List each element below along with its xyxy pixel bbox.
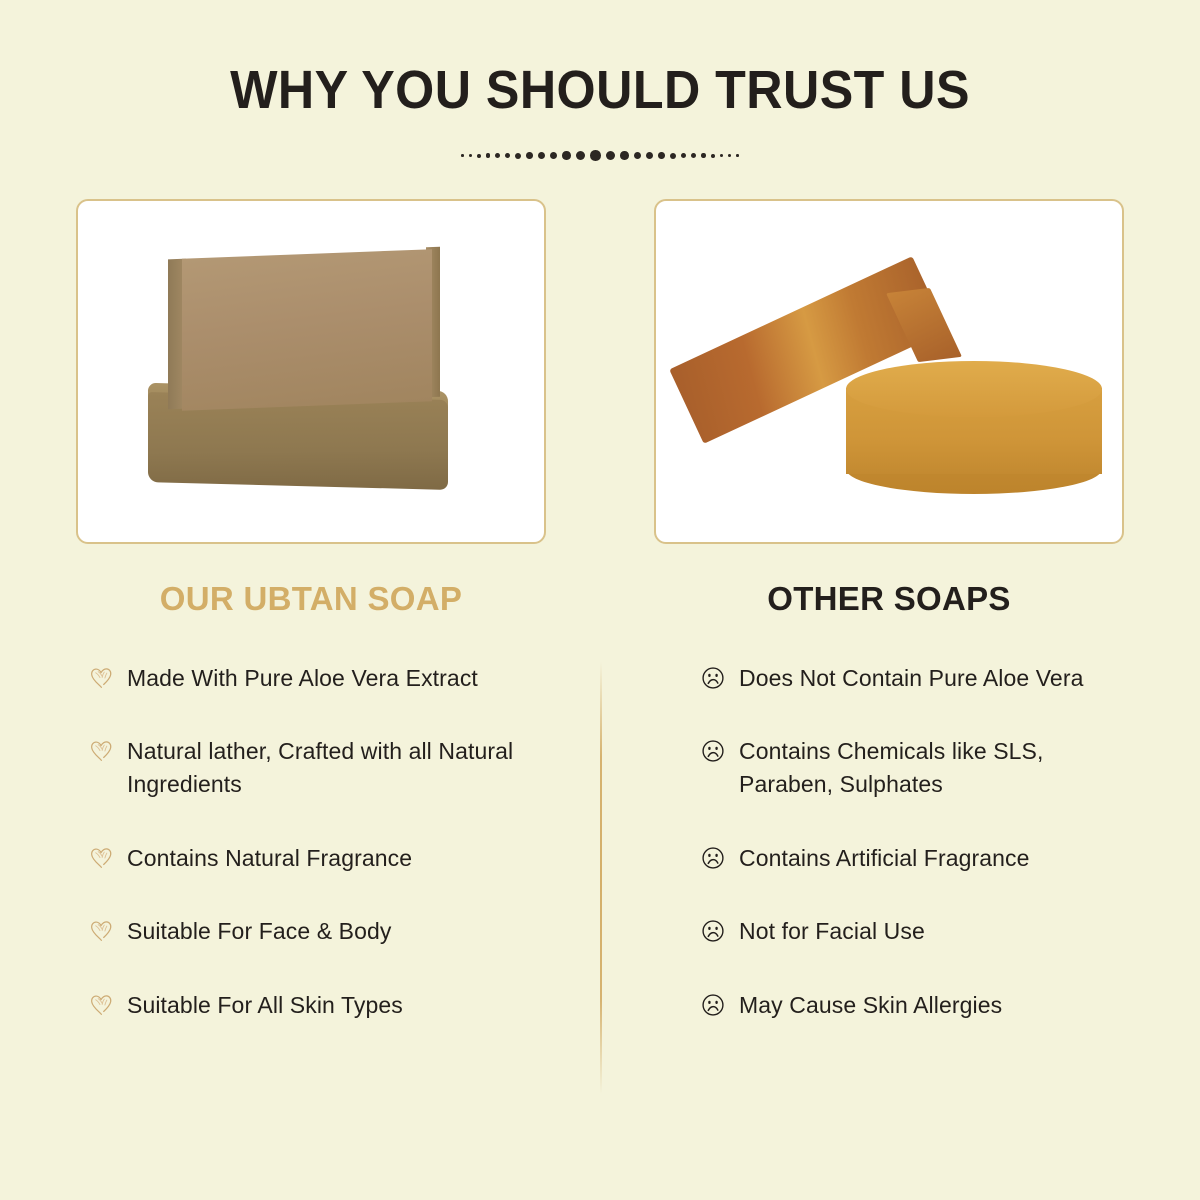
column-divider (600, 662, 602, 1094)
list-item: Suitable For All Skin Types (86, 989, 546, 1022)
sad-face-icon (698, 663, 728, 693)
divider-dot (515, 153, 521, 159)
our-soap-photo (78, 201, 544, 542)
list-item-label: Suitable For All Skin Types (127, 989, 403, 1022)
list-item: Contains Artificial Fragrance (698, 842, 1124, 875)
hand-drawn-heart-icon (86, 736, 116, 766)
divider-dot (670, 153, 676, 159)
list-item-label: May Cause Skin Allergies (739, 989, 1002, 1022)
list-item-label: Made With Pure Aloe Vera Extract (127, 662, 478, 695)
comparison-lists: Made With Pure Aloe Vera ExtractNatural … (0, 662, 1200, 1022)
divider-dot (477, 154, 481, 158)
list-item: Suitable For Face & Body (86, 915, 546, 948)
hand-drawn-heart-icon (86, 990, 116, 1020)
hand-drawn-heart-icon (86, 916, 116, 946)
list-item: Natural lather, Crafted with all Natural… (86, 735, 546, 800)
divider-dot (701, 153, 706, 158)
divider-dot (461, 154, 464, 157)
list-item-label: Contains Chemicals like SLS, Paraben, Su… (739, 735, 1124, 800)
list-item-label: Contains Natural Fragrance (127, 842, 412, 875)
list-item: Made With Pure Aloe Vera Extract (86, 662, 546, 695)
divider-dot (505, 153, 510, 158)
list-item-label: Does Not Contain Pure Aloe Vera (739, 662, 1083, 695)
divider-dot (550, 152, 558, 160)
list-item: Contains Natural Fragrance (86, 842, 546, 875)
list-item-label: Not for Facial Use (739, 915, 925, 948)
other-soaps-heading: OTHER SOAPS (654, 580, 1124, 618)
divider-dot (486, 153, 491, 158)
divider-dot (620, 151, 629, 160)
our-soap-benefit-list: Made With Pure Aloe Vera ExtractNatural … (76, 662, 546, 1022)
divider-dot (606, 151, 616, 161)
our-soap-heading: OUR UBTAN SOAP (76, 580, 546, 618)
divider-dot (590, 150, 601, 161)
sad-face-icon (698, 990, 728, 1020)
sad-face-icon (698, 736, 728, 766)
list-item-label: Suitable For Face & Body (127, 915, 391, 948)
divider-dot (691, 153, 696, 158)
divider-dot (681, 153, 687, 159)
divider-dot (538, 152, 545, 159)
divider-dot (469, 154, 472, 157)
divider-dot (634, 152, 642, 160)
divider-dot (495, 153, 500, 158)
list-item: May Cause Skin Allergies (698, 989, 1124, 1022)
list-item: Not for Facial Use (698, 915, 1124, 948)
column-headings: OUR UBTAN SOAP OTHER SOAPS (0, 580, 1200, 618)
hand-drawn-heart-icon (86, 843, 116, 873)
our-soap-image-card (76, 199, 546, 544)
divider-dot (526, 152, 533, 159)
list-item: Contains Chemicals like SLS, Paraben, Su… (698, 735, 1124, 800)
list-item-label: Contains Artificial Fragrance (739, 842, 1030, 875)
divider-dot (711, 154, 715, 158)
divider-dot (576, 151, 586, 161)
product-image-cards (0, 199, 1200, 544)
page-title: WHY YOU SHOULD TRUST US (42, 62, 1158, 119)
page-header: WHY YOU SHOULD TRUST US (0, 0, 1200, 167)
divider-dot (646, 152, 653, 159)
dot-divider-ornament-icon (450, 145, 750, 167)
divider-dot (736, 154, 739, 157)
list-item: Does Not Contain Pure Aloe Vera (698, 662, 1124, 695)
hand-drawn-heart-icon (86, 663, 116, 693)
other-soaps-drawback-list: Does Not Contain Pure Aloe VeraContains … (654, 662, 1124, 1022)
other-soap-photo (656, 201, 1122, 542)
divider-dot (728, 154, 731, 157)
divider-dot (562, 151, 571, 160)
divider-dot (720, 154, 724, 158)
other-soap-image-card (654, 199, 1124, 544)
list-item-label: Natural lather, Crafted with all Natural… (127, 735, 546, 800)
divider-dot (658, 152, 665, 159)
sad-face-icon (698, 916, 728, 946)
sad-face-icon (698, 843, 728, 873)
